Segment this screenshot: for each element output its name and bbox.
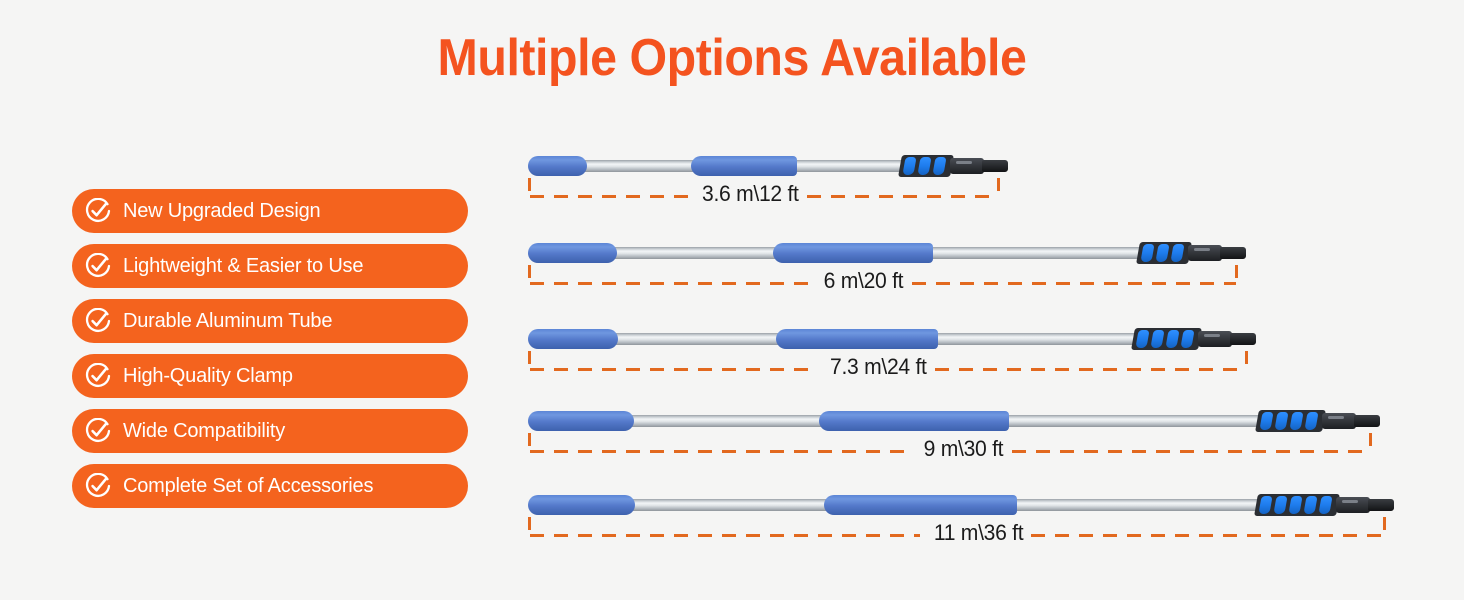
dimension-label: 6 m\20 ft (824, 268, 904, 294)
foam-grip-rear (528, 329, 618, 349)
dimension-dash-left (530, 282, 810, 285)
foam-grip-front (773, 243, 933, 263)
dimension-label: 7.3 m\24 ft (830, 354, 927, 380)
telescoping-pole-graphic (528, 155, 1000, 177)
foam-grip-rear (528, 411, 634, 431)
telescoping-pole-graphic (528, 410, 1372, 432)
tip-housing (950, 158, 984, 174)
foam-grip-front (776, 329, 938, 349)
dimension-dash-right (807, 195, 998, 198)
tip-housing (1336, 497, 1370, 513)
pole-tip (1220, 247, 1246, 259)
dimension-tick-left (528, 178, 531, 191)
dimension-dash-right (935, 368, 1246, 371)
dimension-tick-right (997, 178, 1000, 191)
dimension-tick-left (528, 433, 531, 446)
foam-grip-rear (528, 243, 617, 263)
foam-grip-front (819, 411, 1009, 431)
dimension-dash-left (530, 450, 910, 453)
tip-housing (1198, 331, 1232, 347)
dimension-label: 9 m\30 ft (924, 436, 1004, 462)
telescoping-pole-graphic (528, 328, 1248, 350)
dimension-line: 7.3 m\24 ft (528, 351, 1248, 385)
pole-size-diagram-list: 3.6 m\12 ft6 m\20 ft7.3 m\24 ft9 m\30 ft… (0, 0, 1464, 600)
foam-grip-front (691, 156, 797, 176)
pole-tip (982, 160, 1008, 172)
dimension-line: 9 m\30 ft (528, 433, 1372, 467)
dimension-dash-left (530, 368, 816, 371)
dimension-line: 11 m\36 ft (528, 517, 1386, 551)
foam-grip-rear (528, 495, 635, 515)
dimension-label: 3.6 m\12 ft (702, 181, 799, 207)
dimension-tick-right (1245, 351, 1248, 364)
dimension-line: 6 m\20 ft (528, 265, 1238, 299)
tip-housing (1322, 413, 1356, 429)
telescoping-pole-graphic (528, 494, 1386, 516)
dimension-tick-left (528, 265, 531, 278)
dimension-tick-right (1369, 433, 1372, 446)
dimension-dash-left (530, 195, 688, 198)
pole-tip (1230, 333, 1256, 345)
dimension-tick-left (528, 351, 531, 364)
dimension-tick-left (528, 517, 531, 530)
foam-grip-rear (528, 156, 587, 176)
pole-tip (1354, 415, 1380, 427)
dimension-dash-right (1012, 450, 1370, 453)
dimension-line: 3.6 m\12 ft (528, 178, 1000, 212)
pole-tip (1368, 499, 1394, 511)
dimension-label: 11 m\36 ft (934, 520, 1023, 546)
dimension-tick-right (1235, 265, 1238, 278)
dimension-dash-left (530, 534, 920, 537)
telescoping-pole-graphic (528, 242, 1238, 264)
foam-grip-front (824, 495, 1017, 515)
dimension-tick-right (1383, 517, 1386, 530)
dimension-dash-right (912, 282, 1236, 285)
dimension-dash-right (1031, 534, 1384, 537)
tip-housing (1188, 245, 1222, 261)
